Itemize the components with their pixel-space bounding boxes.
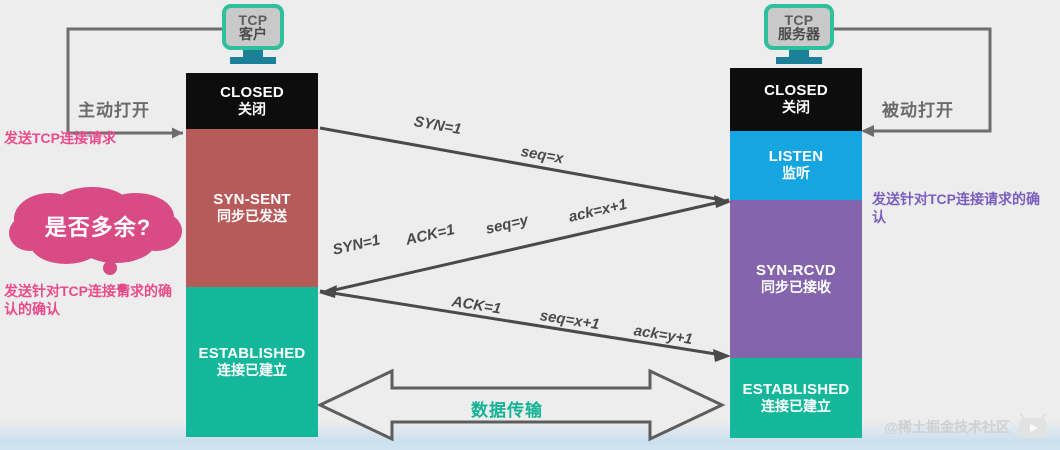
client-state-established: ESTABLISHED 连接已建立	[186, 287, 318, 437]
server-label-line2: 服务器	[778, 27, 820, 41]
client-state-syn-sent: SYN-SENT 同步已发送	[186, 129, 318, 287]
client-monitor-neck	[243, 50, 263, 57]
passive-open-arrowhead	[861, 125, 874, 137]
server-state-syn-rcvd-en: SYN-RCVD	[756, 263, 836, 280]
client-monitor-screen: TCP 客户	[222, 4, 284, 50]
server-monitor-screen: TCP 服务器	[764, 4, 834, 50]
server-state-established-cn: 连接已建立	[761, 399, 831, 415]
active-open-label: 主动打开	[78, 96, 150, 121]
client-label-line1: TCP	[239, 13, 268, 27]
message-ack-arrowhead	[713, 349, 731, 362]
client-monitor-base	[230, 57, 276, 64]
server-monitor-neck	[789, 50, 809, 57]
message-ack-line	[320, 291, 722, 355]
server-state-established: ESTABLISHED 连接已建立	[730, 358, 862, 438]
client-endpoint-icon: TCP 客户	[222, 4, 284, 64]
server-state-listen: LISTEN 监听	[730, 131, 862, 200]
client-state-syn-sent-en: SYN-SENT	[213, 192, 290, 209]
server-state-closed: CLOSED 关闭	[730, 68, 862, 131]
diagram-canvas: 是否多余? TCP 客户 TCP 服务器 CLOSED 关闭 SYN-SENT …	[0, 0, 1060, 450]
client-state-established-en: ESTABLISHED	[199, 346, 306, 363]
passive-open-label: 被动打开	[882, 96, 954, 121]
watermark-text: @稀土掘金技术社区	[884, 417, 1010, 437]
server-state-listen-cn: 监听	[782, 166, 810, 182]
client-state-closed-en: CLOSED	[220, 85, 284, 102]
server-state-closed-cn: 关闭	[782, 100, 810, 116]
tv-play-icon	[1016, 414, 1050, 440]
server-state-syn-rcvd: SYN-RCVD 同步已接收	[730, 200, 862, 358]
server-state-established-en: ESTABLISHED	[743, 382, 850, 399]
client-state-closed-cn: 关闭	[238, 102, 266, 118]
client-state-column: CLOSED 关闭 SYN-SENT 同步已发送 ESTABLISHED 连接已…	[186, 73, 318, 437]
server-state-syn-rcvd-cn: 同步已接收	[761, 280, 831, 296]
client-label-line2: 客户	[239, 27, 267, 41]
client-state-closed: CLOSED 关闭	[186, 73, 318, 129]
data-transfer-label: 数据传输	[471, 396, 543, 421]
message-syn-line	[320, 128, 722, 200]
server-monitor-base	[776, 57, 822, 64]
watermark: @稀土掘金技术社区	[884, 414, 1050, 440]
client-state-established-cn: 连接已建立	[217, 363, 287, 379]
server-endpoint-icon: TCP 服务器	[764, 4, 834, 64]
annotation-send-connection-request: 发送TCP连接请求	[4, 130, 182, 148]
server-label-line1: TCP	[785, 13, 814, 27]
client-state-syn-sent-cn: 同步已发送	[217, 209, 287, 225]
thought-bubble-text: 是否多余?	[14, 191, 182, 261]
annotation-ack-of-ack: 发送针对TCP连接请求的确认的确认	[4, 283, 184, 318]
server-state-closed-en: CLOSED	[764, 83, 828, 100]
message-syn-ack-line	[330, 200, 729, 291]
server-state-column: CLOSED 关闭 LISTEN 监听 SYN-RCVD 同步已接收 ESTAB…	[730, 68, 862, 438]
server-state-listen-en: LISTEN	[769, 149, 824, 166]
annotation-send-ack-of-request: 发送针对TCP连接请求的确认	[872, 190, 1052, 226]
thought-bubble: 是否多余?	[8, 185, 186, 267]
